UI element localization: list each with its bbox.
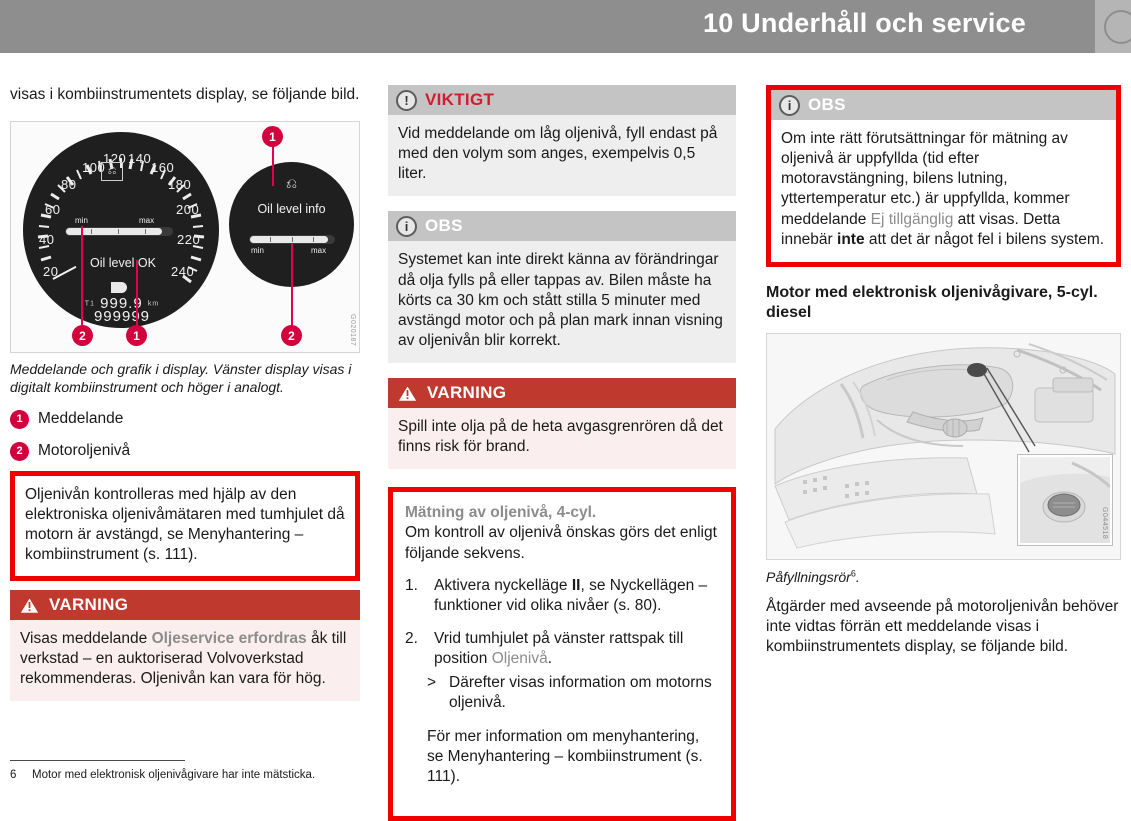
note-title: OBS	[808, 95, 846, 115]
grey-term: Oljenivå	[492, 650, 548, 667]
leader-line	[272, 144, 274, 186]
oil-level-info-label: Oil level info	[229, 202, 354, 216]
right-paragraph: Åtgärder med avseende på motoroljenivån …	[766, 597, 1121, 657]
bar-max-label: max	[311, 246, 326, 255]
bar-max-label: max	[139, 216, 154, 225]
warning-body: Visas meddelande Oljeservice erfordras å…	[10, 620, 360, 701]
procedure-sub-paragraph: För mer information om menyhantering, se…	[405, 727, 719, 787]
footnote-text: Motor med elektronisk oljenivågivare har…	[32, 768, 315, 783]
legend-item-2: 2 Motoroljenivå	[10, 441, 360, 461]
gauge-label-180: 180	[168, 177, 191, 192]
oil-can-icon: ⎌	[101, 162, 123, 181]
engine-bay-figure: G044518	[766, 333, 1121, 560]
important-body: Vid meddelande om låg oljenivå, fyll end…	[388, 115, 736, 196]
callout-1-top: 1	[262, 126, 283, 147]
leader-line	[291, 244, 293, 326]
procedure-heading: Mätning av oljenivå, 4-cyl.	[405, 504, 719, 522]
legend-number-badge: 2	[10, 442, 29, 461]
engine-image-caption: Påfyllningsrör6.	[766, 568, 1121, 586]
step-text: Vrid tumhjulet på vänster rattspak till …	[434, 629, 719, 669]
bold-term: inte	[837, 231, 865, 248]
legend-number-badge: 1	[10, 410, 29, 429]
grey-term: Ej tillgänglig	[871, 211, 954, 228]
gauge-label-200: 200	[176, 202, 199, 217]
note-body: Om inte rätt förutsättningar för mätning…	[771, 120, 1116, 262]
sub-item-text: Därefter visas information om motorns ol…	[449, 673, 719, 713]
step-number: 2.	[405, 629, 425, 669]
info-circle-icon: i	[396, 216, 417, 237]
warning-box-oil-service: VARNING Visas meddelande Oljeservice erf…	[10, 590, 360, 701]
header-side-tab	[1095, 0, 1131, 53]
highlight-box-text: Oljenivån kontrolleras med hjälp av den …	[25, 485, 345, 566]
lead-paragraph: visas i kombiinstrumentets display, se f…	[10, 85, 360, 105]
gauge-label-40: 40	[39, 232, 54, 247]
page-title: 10 Underhåll och service	[703, 8, 1026, 39]
highlight-box-oil-check: Oljenivån kontrolleras med hjälp av den …	[10, 471, 360, 581]
note-title: OBS	[425, 216, 463, 236]
note-box-system: i OBS Systemet kan inte direkt känna av …	[388, 211, 736, 363]
important-box: ! VIKTIGT Vid meddelande om låg oljenivå…	[388, 85, 736, 196]
gauge-label-140: 140	[128, 151, 151, 166]
callout-2-left: 2	[72, 325, 93, 346]
figure-caption: Meddelande och grafik i display. Vänster…	[10, 361, 360, 397]
odometer: 999999	[67, 308, 177, 325]
legend-item-1: 1 Meddelande	[10, 409, 360, 429]
left-column: visas i kombiinstrumentets display, se f…	[10, 85, 360, 701]
gauge-label-160: 160	[151, 160, 174, 175]
procedure-step-1: 1. Aktivera nyckelläge II, se Nyckelläge…	[405, 576, 719, 616]
sub-item-marker: >	[427, 673, 440, 713]
info-circle-icon: i	[779, 95, 800, 116]
oil-filler-cap-closeup: G044518	[1018, 455, 1112, 545]
warning-title: VARNING	[49, 595, 128, 615]
gauge-label-80: 80	[61, 177, 76, 192]
exclamation-circle-icon: !	[396, 90, 417, 111]
procedure-step-list: 1. Aktivera nyckelläge II, se Nyckelläge…	[405, 576, 719, 787]
leader-line	[81, 226, 83, 326]
right-column: i OBS Om inte rätt förutsättningar för m…	[766, 85, 1121, 657]
page-header: 10 Underhåll och service	[0, 0, 1131, 53]
section-sub-heading: Motor med elektronisk oljenivågivare, 5-…	[766, 283, 1121, 323]
low-beam-icon	[111, 282, 127, 293]
instrument-cluster-figure: 20 40 60 80 100 120 140 160 180 200 220 …	[10, 121, 360, 353]
note-body: Systemet kan inte direkt känna av föränd…	[388, 241, 736, 363]
analog-gauge: 20 40 60 80 100 120 140 160 180 200 220 …	[23, 132, 219, 328]
footnote-area: 6 Motor med elektronisk oljenivågivare h…	[10, 760, 430, 783]
warning-body: Spill inte olja på de heta avgasgrenröre…	[388, 408, 736, 469]
procedure-sub-item: > Därefter visas information om motorns …	[405, 673, 719, 713]
note-box-conditions: i OBS Om inte rätt förutsättningar för m…	[766, 85, 1121, 267]
gauge-label-220: 220	[177, 232, 200, 247]
footnote-divider	[10, 760, 185, 761]
legend-label: Motoroljenivå	[38, 441, 130, 460]
procedure-step-2: 2. Vrid tumhjulet på vänster rattspak ti…	[405, 629, 719, 787]
step-number: 1.	[405, 576, 425, 616]
step-text: Aktivera nyckelläge II, se Nyckellägen –…	[434, 576, 719, 616]
gauge-label-60: 60	[45, 202, 60, 217]
bar-min-label: min	[75, 216, 88, 225]
callout-1-bottom: 1	[126, 325, 147, 346]
procedure-intro: Om kontroll av oljenivå önskas görs det …	[405, 523, 719, 563]
engine-image-id: G044518	[1101, 507, 1108, 539]
grey-term: Oljeservice erfordras	[152, 630, 307, 647]
middle-column: ! VIKTIGT Vid meddelande om låg oljenivå…	[388, 85, 736, 821]
warning-triangle-icon	[396, 383, 419, 404]
warning-title: VARNING	[427, 383, 506, 403]
figure-image-id: G020187	[349, 314, 356, 346]
procedure-box: Mätning av oljenivå, 4-cyl. Om kontroll …	[388, 487, 736, 821]
footnote-number: 6	[10, 768, 20, 783]
footnote-item: 6 Motor med elektronisk oljenivågivare h…	[10, 768, 430, 783]
callout-2-right: 2	[281, 325, 302, 346]
partial-circle-icon	[1104, 10, 1131, 44]
oil-can-icon: ⎌	[229, 176, 354, 190]
leader-line	[136, 260, 138, 326]
legend-label: Meddelande	[38, 409, 123, 428]
bar-min-label: min	[251, 246, 264, 255]
warning-triangle-icon	[18, 594, 41, 615]
warning-box-spill: VARNING Spill inte olja på de heta avgas…	[388, 378, 736, 469]
important-title: VIKTIGT	[425, 90, 494, 110]
